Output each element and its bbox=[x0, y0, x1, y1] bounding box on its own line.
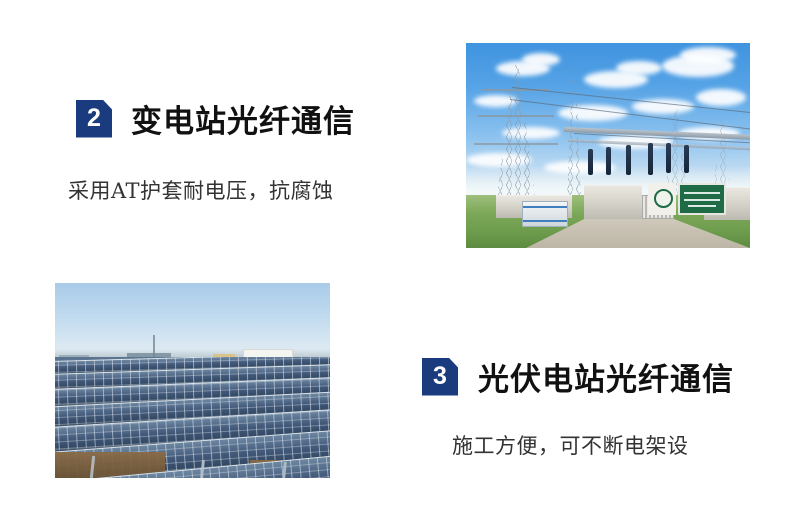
section-2-title: 变电站光纤通信 bbox=[131, 96, 355, 141]
state-grid-logo-icon bbox=[654, 189, 673, 208]
cloud-shape bbox=[696, 89, 746, 106]
section-2-badge: 2 bbox=[76, 100, 112, 138]
insulator-bushing bbox=[626, 145, 631, 175]
cabinet-stripe bbox=[523, 220, 567, 222]
section-2-subtitle: 采用AT护套耐电压，抗腐蚀 bbox=[68, 175, 334, 205]
insulator-bushing bbox=[648, 143, 653, 175]
insulator-bushing bbox=[666, 143, 671, 173]
section-3-badge: 3 bbox=[422, 358, 458, 396]
insulator-bushing bbox=[606, 147, 611, 175]
signboard-text-line bbox=[684, 199, 719, 201]
company-logo-plate bbox=[648, 183, 676, 215]
solar-farm-photo bbox=[55, 283, 330, 478]
signboard-text-line bbox=[688, 205, 716, 207]
insulator-bushing bbox=[588, 149, 593, 175]
page-root: 2 变电站光纤通信 采用AT护套耐电压，抗腐蚀 3 光伏电站光纤通信 施工方便，… bbox=[0, 0, 790, 508]
perimeter-wall bbox=[584, 185, 642, 220]
section-3-subtitle: 施工方便，可不断电架设 bbox=[452, 430, 689, 460]
cloud-shape bbox=[522, 53, 560, 66]
insulator-bushing bbox=[684, 145, 689, 173]
sky-background bbox=[55, 283, 330, 357]
solar-panel-field bbox=[55, 357, 330, 478]
control-cabinet bbox=[522, 201, 568, 227]
tower-crossarm bbox=[474, 143, 558, 145]
substation-photo bbox=[466, 43, 750, 248]
cabinet-stripe bbox=[523, 206, 567, 208]
cloud-shape bbox=[616, 61, 662, 75]
section-3-heading: 3 光伏电站光纤通信 bbox=[422, 354, 734, 399]
signboard-text-line bbox=[684, 192, 719, 194]
cloud-shape bbox=[680, 47, 736, 63]
tower-crossarm bbox=[478, 115, 554, 117]
signboard bbox=[678, 183, 726, 215]
section-3-title: 光伏电站光纤通信 bbox=[478, 354, 734, 399]
section-2-heading: 2 变电站光纤通信 bbox=[76, 96, 355, 141]
